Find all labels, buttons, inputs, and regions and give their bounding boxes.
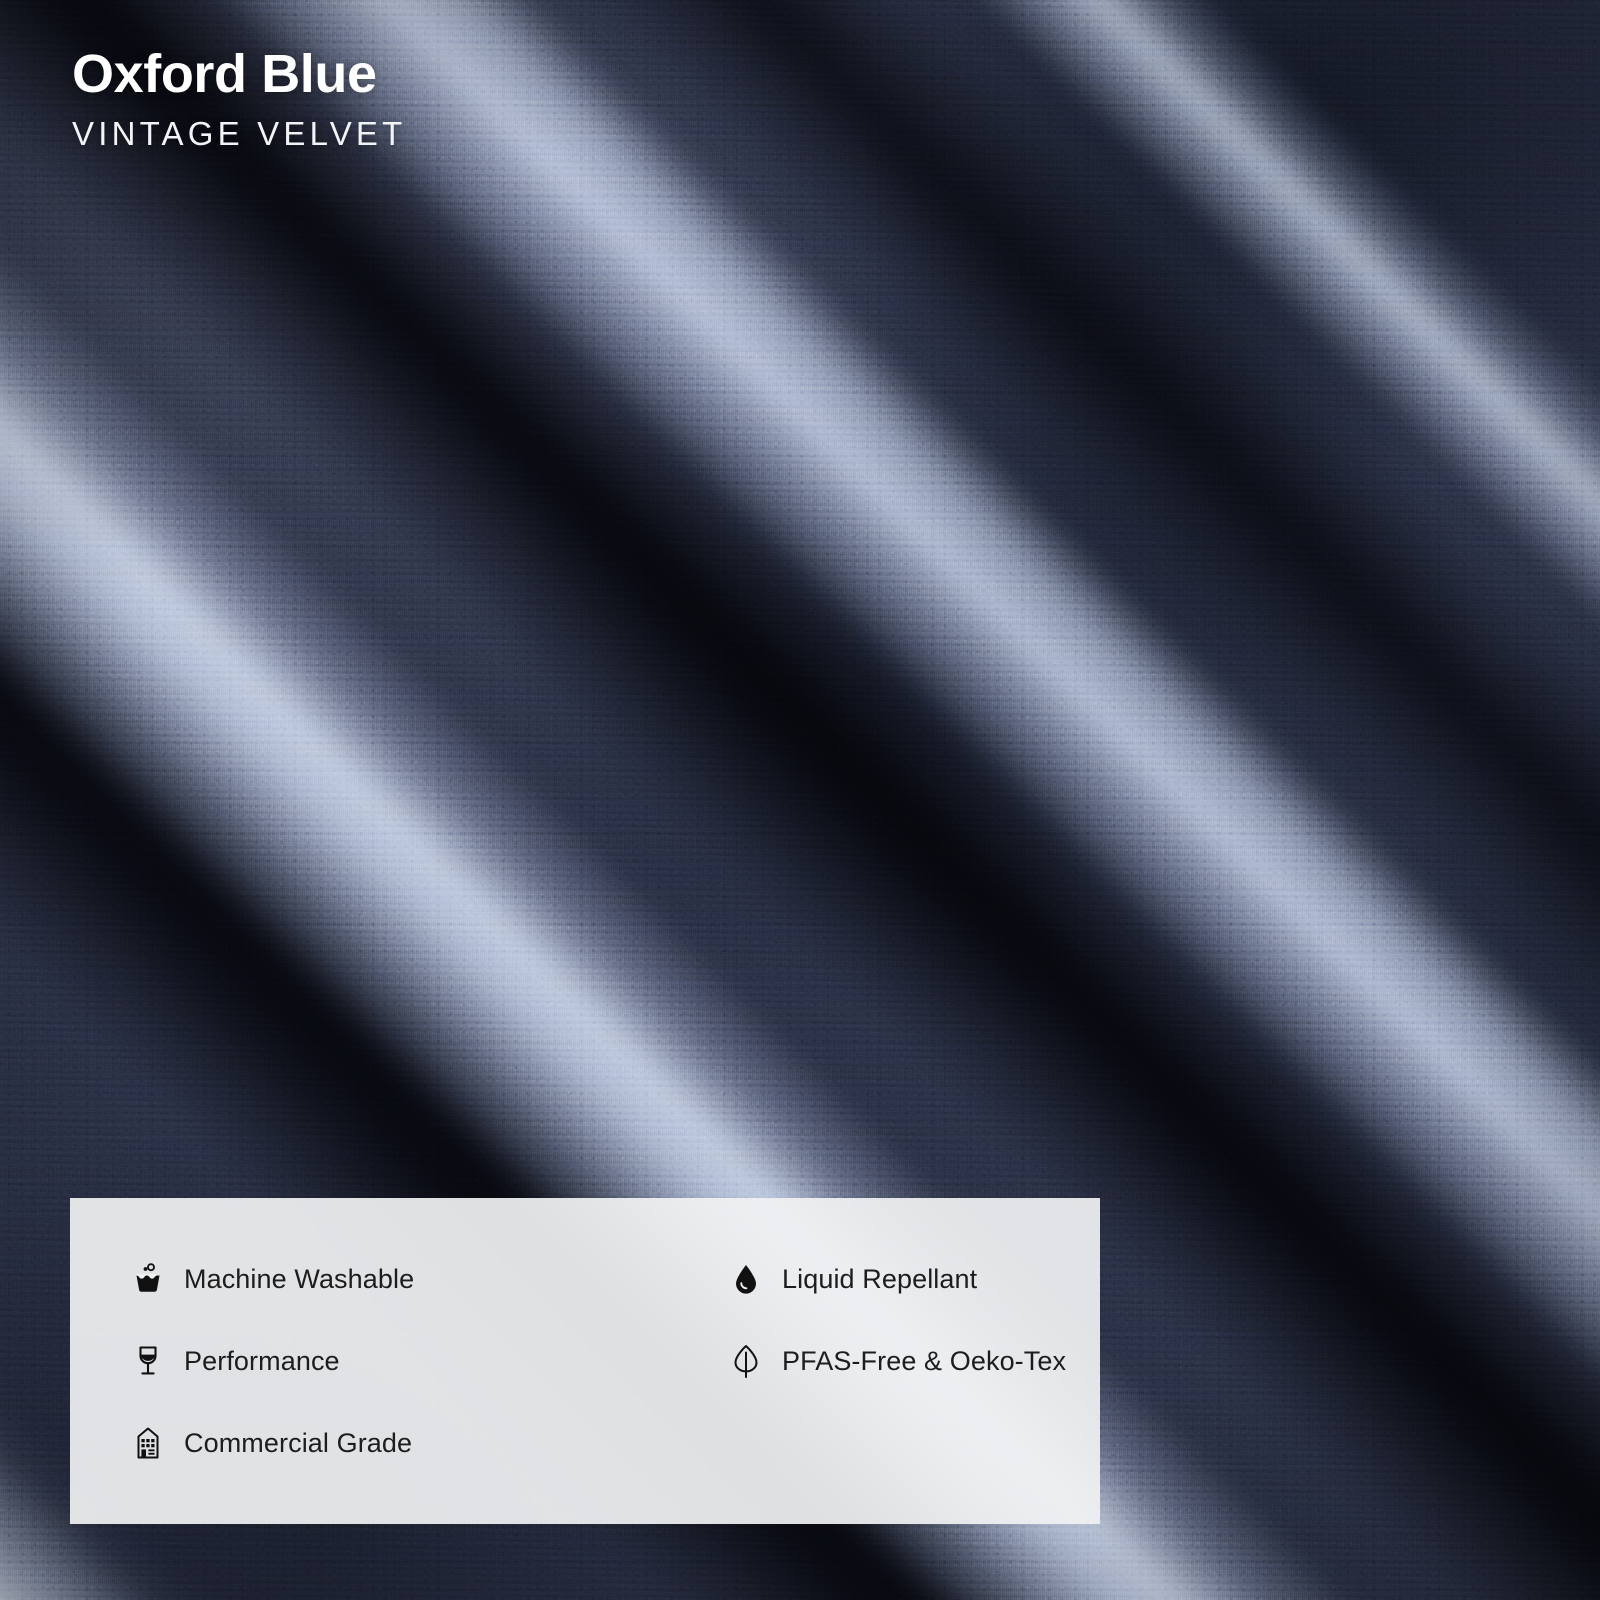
page-title: Oxford Blue [72,46,406,103]
feature-label: Commercial Grade [184,1428,412,1459]
feature-panel: Machine Washable Liquid Repellant [70,1198,1100,1524]
leaf-icon [726,1341,766,1381]
collection-subtitle: VINTAGE VELVET [72,116,406,152]
water-droplet-icon [726,1259,766,1299]
feature-item-pfas-free-oeko-tex: PFAS-Free & Oeko-Tex [668,1320,1100,1402]
feature-item-machine-washable: Machine Washable [70,1238,668,1320]
wine-glass-icon [128,1341,168,1381]
feature-label: Machine Washable [184,1264,414,1295]
feature-item-performance: Performance [70,1320,668,1402]
title-block: Oxford Blue VINTAGE VELVET [72,46,406,152]
feature-item-commercial-grade: Commercial Grade [70,1402,668,1484]
washing-tub-icon [128,1259,168,1299]
feature-label: Liquid Repellant [782,1264,977,1295]
feature-item-liquid-repellant: Liquid Repellant [668,1238,1100,1320]
feature-label: PFAS-Free & Oeko-Tex [782,1346,1066,1377]
building-icon [128,1423,168,1463]
feature-label: Performance [184,1346,340,1377]
fabric-swatch-card: Oxford Blue VINTAGE VELVET Machine Washa… [0,0,1600,1600]
feature-grid-empty-cell [668,1402,1100,1484]
